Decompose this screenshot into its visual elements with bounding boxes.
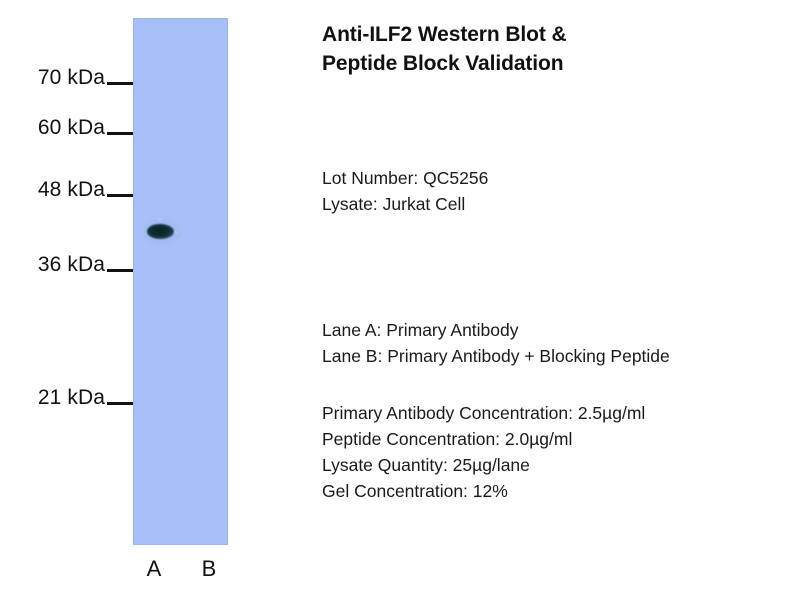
- mw-marker-48: 48 kDa: [38, 178, 133, 202]
- blot-speck: [157, 218, 162, 221]
- blot-title-line-2: Peptide Block Validation: [322, 49, 800, 78]
- mw-marker-21: 21 kDa: [38, 386, 133, 410]
- blot-title-line-1: Anti-ILF2 Western Blot &: [322, 20, 800, 49]
- lane-legend-block: Lane A: Primary Antibody Lane B: Primary…: [322, 317, 670, 369]
- blot-title: Anti-ILF2 Western Blot & Peptide Block V…: [322, 20, 800, 78]
- peptide-concentration-line: Peptide Concentration: 2.0µg/ml: [322, 426, 645, 452]
- blot-information-panel: Anti-ILF2 Western Blot & Peptide Block V…: [322, 20, 800, 78]
- blot-band-lane-a: [147, 224, 174, 239]
- primary-antibody-concentration-line: Primary Antibody Concentration: 2.5µg/ml: [322, 400, 645, 426]
- mw-marker-label: 70 kDa: [38, 66, 105, 90]
- mw-tick-icon: [107, 269, 133, 272]
- lysate-line: Lysate: Jurkat Cell: [322, 191, 488, 217]
- mw-tick-icon: [107, 194, 133, 197]
- gel-concentration-line: Gel Concentration: 12%: [322, 478, 645, 504]
- lane-b-description: Lane B: Primary Antibody + Blocking Pept…: [322, 343, 670, 369]
- mw-marker-70: 70 kDa: [38, 66, 133, 90]
- mw-marker-60: 60 kDa: [38, 116, 133, 140]
- mw-tick-icon: [107, 132, 133, 135]
- lane-label-b: B: [202, 556, 217, 582]
- lane-label-row: A B: [133, 556, 228, 588]
- mw-tick-icon: [107, 82, 133, 85]
- mw-tick-icon: [107, 402, 133, 405]
- lot-number-line: Lot Number: QC5256: [322, 165, 488, 191]
- lane-label-a: A: [147, 556, 162, 582]
- mw-marker-label: 48 kDa: [38, 178, 105, 202]
- blot-membrane-panel: [133, 18, 228, 545]
- blot-speck: [174, 231, 178, 234]
- lysate-quantity-line: Lysate Quantity: 25µg/lane: [322, 452, 645, 478]
- mw-marker-36: 36 kDa: [38, 253, 133, 277]
- assay-parameters-block: Primary Antibody Concentration: 2.5µg/ml…: [322, 400, 645, 504]
- mw-marker-label: 21 kDa: [38, 386, 105, 410]
- mw-marker-label: 60 kDa: [38, 116, 105, 140]
- lane-a-description: Lane A: Primary Antibody: [322, 317, 670, 343]
- molecular-weight-ladder: 70 kDa 60 kDa 48 kDa 36 kDa 21 kDa: [0, 0, 133, 600]
- sample-info-block: Lot Number: QC5256 Lysate: Jurkat Cell: [322, 165, 488, 217]
- mw-marker-label: 36 kDa: [38, 253, 105, 277]
